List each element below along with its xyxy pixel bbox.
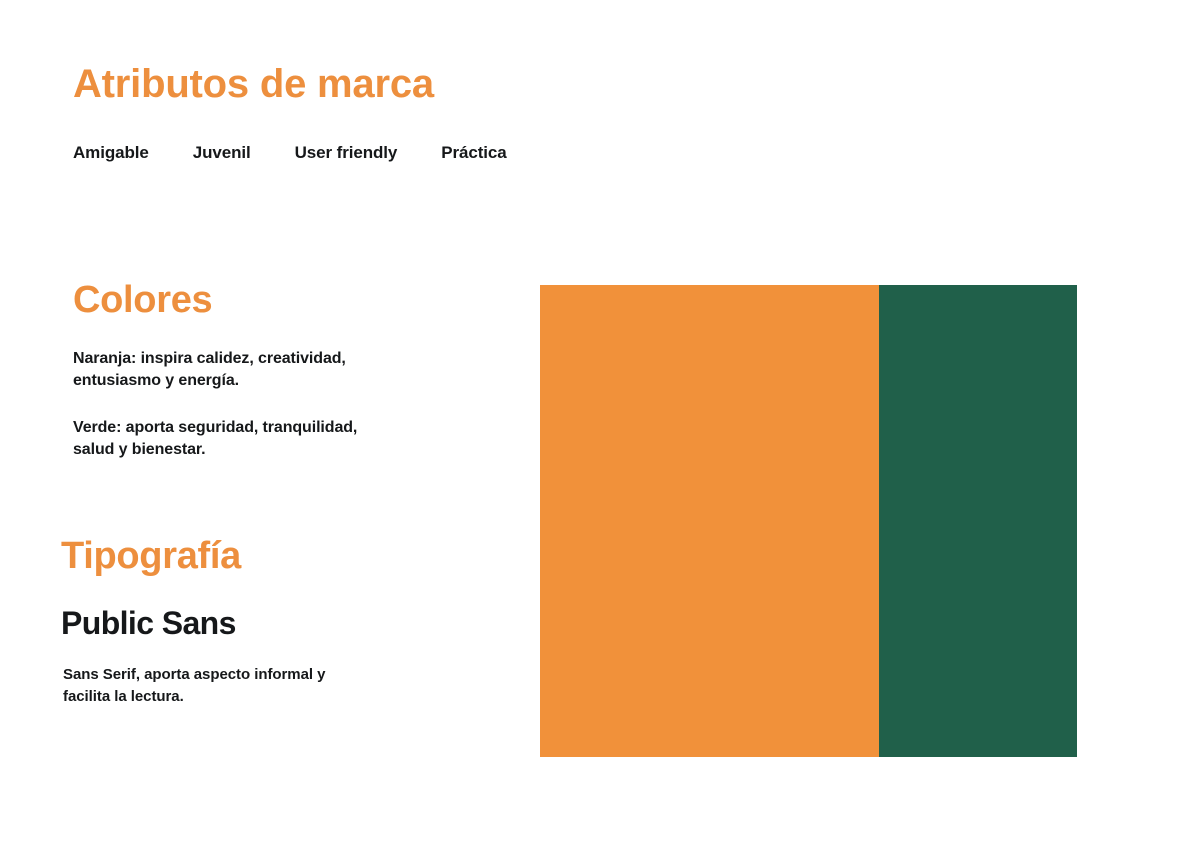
typography-title: Tipografía xyxy=(61,535,481,579)
attribute-item-juvenil: Juvenil xyxy=(193,143,251,163)
typeface-note: Sans Serif, aporta aspecto informal y fa… xyxy=(61,664,481,708)
color-swatch-panel xyxy=(540,285,1077,757)
attribute-item-amigable: Amigable xyxy=(73,143,149,163)
typeface-name: Public Sans xyxy=(61,605,481,642)
colors-section: Colores Naranja: inspira calidez, creati… xyxy=(73,279,493,461)
attribute-item-user-friendly: User friendly xyxy=(295,143,398,163)
brand-attributes-section: Atributos de marca Amigable Juvenil User… xyxy=(73,61,633,163)
typography-section: Tipografía Public Sans Sans Serif, aport… xyxy=(61,535,481,708)
color-swatch-verde xyxy=(879,285,1077,757)
color-swatch-naranja xyxy=(540,285,879,757)
brand-attributes-title: Atributos de marca xyxy=(73,61,633,107)
attribute-item-practica: Práctica xyxy=(441,143,506,163)
brand-attributes-list: Amigable Juvenil User friendly Práctica xyxy=(73,143,633,163)
brand-guidelines-page: Atributos de marca Amigable Juvenil User… xyxy=(0,0,1200,848)
color-note-naranja: Naranja: inspira calidez, creatividad, e… xyxy=(73,348,493,392)
colors-title: Colores xyxy=(73,279,493,323)
color-note-verde: Verde: aporta seguridad, tranquilidad, s… xyxy=(73,417,493,461)
